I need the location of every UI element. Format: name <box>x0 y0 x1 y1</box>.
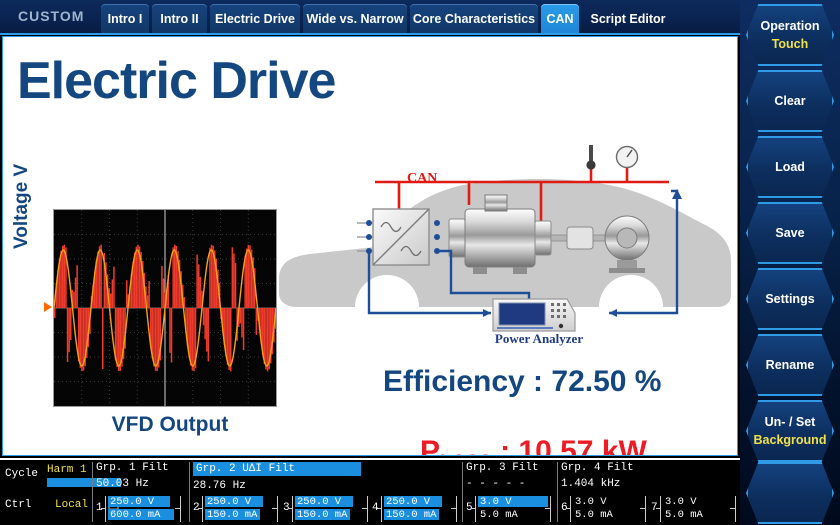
ploss-readout: PLOSS : 10.57 kW <box>420 435 647 456</box>
channel-tick-left <box>377 508 382 509</box>
status-bar: Cycle Harm 1 Ctrl Local Grp. 1 Filt50.03… <box>0 458 740 525</box>
channel-tick-left <box>566 508 571 509</box>
channel-bracket-right <box>645 496 646 522</box>
can-bus-label: CAN <box>407 171 437 187</box>
channel-current-value: 600.0 mA <box>108 509 160 521</box>
channel-tick-left <box>656 508 661 509</box>
channel-bracket-right <box>456 496 457 522</box>
side-button-rail: OperationTouchClearLoadSaveSettingsRenam… <box>740 0 840 525</box>
status-group-frequency: 50.03 Hz <box>96 478 169 490</box>
tab-intro-ii[interactable]: Intro II <box>152 4 207 33</box>
pwm-pulse <box>80 308 82 368</box>
channel-tick-left <box>471 508 476 509</box>
tab-can[interactable]: CAN <box>541 4 579 33</box>
pwm-pulse <box>100 245 102 308</box>
channel-current-value: 5.0 mA <box>573 509 613 521</box>
channel-current-value: 150.0 mA <box>205 509 257 521</box>
pwm-pulse <box>75 278 77 308</box>
rail-button-label: Clear <box>774 94 805 109</box>
pwm-pulse <box>169 308 171 353</box>
ploss-value: 10.57 kW <box>518 435 646 456</box>
channel-voltage-value: 3.0 V <box>663 496 697 508</box>
rail-button-operation[interactable]: OperationTouch <box>746 4 834 66</box>
pwm-pulse <box>208 308 210 361</box>
rail-button-label: Settings <box>765 292 814 307</box>
pwm-pulse <box>68 308 70 352</box>
pwm-pulse <box>172 247 174 308</box>
rail-button-rename[interactable]: Rename <box>746 334 834 396</box>
pwm-pulse <box>203 308 205 325</box>
pwm-pulse <box>70 308 72 340</box>
tab-core-characteristics[interactable]: Core Characteristics <box>410 4 538 33</box>
channel-current-value: 150.0 mA <box>295 509 347 521</box>
status-group-header[interactable]: Grp. 3 Filt <box>466 462 539 474</box>
inverter-output-terminals <box>434 220 440 254</box>
status-group-header[interactable]: Grp. 2 UΔI Filt <box>193 462 361 476</box>
pwm-pulse <box>211 245 213 308</box>
pwm-pulse <box>190 308 192 366</box>
channel-meter-3[interactable]: 3250.0 V150.0 mA <box>283 496 369 522</box>
pwm-pulse <box>241 308 243 338</box>
pwm-pulse <box>155 308 157 371</box>
pwm-pulse <box>136 247 138 308</box>
pwm-pulse <box>200 277 202 308</box>
channel-bracket-left <box>570 496 571 522</box>
application-window: CUSTOM Intro IIntro IIElectric DriveWide… <box>0 0 840 525</box>
rail-button-empty[interactable] <box>746 462 834 524</box>
harmonic-value[interactable]: Harm 1 <box>47 464 87 476</box>
channel-tick-right <box>730 508 735 509</box>
inverter-block <box>373 209 429 265</box>
rail-button-sublabel: Touch <box>772 37 809 52</box>
channel-bracket-left <box>660 496 661 522</box>
pwm-pulse <box>240 308 242 323</box>
channel-meter-1[interactable]: 1250.0 V600.0 mA <box>96 496 182 522</box>
channel-bracket-left <box>292 496 293 522</box>
pwm-pulse <box>54 308 56 318</box>
power-analyzer <box>493 299 575 331</box>
rail-button-un-set[interactable]: Un- / SetBackground <box>746 400 834 462</box>
channel-meter-2[interactable]: 2250.0 V150.0 mA <box>193 496 279 522</box>
channel-tick-right <box>362 508 367 509</box>
efficiency-label: Efficiency : <box>383 365 551 398</box>
pwm-pulse <box>60 251 62 308</box>
waveform-display[interactable] <box>53 209 277 407</box>
pwm-pulse <box>267 308 269 371</box>
tab-electric-drive[interactable]: Electric Drive <box>210 4 300 33</box>
tab-bar: CUSTOM Intro IIntro IIElectric DriveWide… <box>0 0 740 34</box>
status-group-3: Grp. 3 Filt- - - - - <box>466 462 539 490</box>
channel-tick-right <box>451 508 456 509</box>
status-group-header[interactable]: Grp. 1 Filt <box>96 462 169 474</box>
rail-button-label: Load <box>775 160 805 175</box>
channel-tick-right <box>175 508 180 509</box>
channel-meter-7[interactable]: 73.0 V5.0 mA <box>651 496 737 522</box>
temperature-sensor-icon <box>586 145 595 170</box>
status-group-2: Grp. 2 UΔI Filt28.76 Hz <box>193 462 361 492</box>
rail-button-label: Operation <box>760 19 819 34</box>
gauge-icon <box>617 147 638 168</box>
pwm-pulse <box>148 281 150 308</box>
status-separator <box>557 462 558 522</box>
efficiency-value: 72.50 % <box>551 365 661 398</box>
pwm-pulse <box>209 248 211 308</box>
pwm-pulse <box>265 308 267 370</box>
power-analyzer-label: Power Analyzer <box>479 331 599 347</box>
tab-wide-vs-narrow[interactable]: Wide vs. Narrow <box>303 4 407 33</box>
waveform-panel: Voltage V V <box>53 209 277 437</box>
pwm-pulse <box>163 279 165 309</box>
rail-button-sublabel: Background <box>754 433 827 448</box>
status-group-frequency: 1.404 kHz <box>561 478 634 490</box>
channel-tick-right <box>272 508 277 509</box>
rail-button-label: Rename <box>766 358 815 373</box>
channel-voltage-value: 250.0 V <box>205 496 251 508</box>
pwm-pulse <box>232 247 234 308</box>
channel-bracket-right <box>735 496 736 522</box>
pwm-pulse <box>171 308 173 363</box>
status-group-4: Grp. 4 Filt1.404 kHz <box>561 462 634 490</box>
waveform-caption: VFD Output <box>75 413 265 437</box>
pwm-pulse <box>256 308 258 335</box>
channel-tick-left <box>288 508 293 509</box>
pwm-pulse <box>227 308 229 365</box>
pwm-pulse <box>198 265 200 309</box>
tab-intro-i[interactable]: Intro I <box>101 4 149 33</box>
efficiency-readout: Efficiency : 72.50 % <box>383 365 661 399</box>
pwm-pulse <box>248 245 250 308</box>
status-group-frequency: - - - - - <box>466 478 539 490</box>
pwm-pulse <box>192 308 194 370</box>
pwm-pulse <box>81 308 83 371</box>
ploss-label: P <box>420 435 440 456</box>
pwm-pulse <box>153 308 155 366</box>
rail-button-settings[interactable]: Settings <box>746 268 834 330</box>
channel-voltage-value: 250.0 V <box>295 496 341 508</box>
channel-bracket-left <box>475 496 476 522</box>
channel-bracket-left <box>105 496 106 522</box>
pwm-pulse <box>110 294 112 309</box>
rail-button-load[interactable]: Load <box>746 136 834 198</box>
pwm-pulse <box>99 246 101 308</box>
pwm-pulse <box>243 308 245 350</box>
rail-button-clear[interactable]: Clear <box>746 70 834 132</box>
pwm-pulse <box>196 255 198 308</box>
channel-current-value: 5.0 mA <box>478 509 518 521</box>
pwm-pulse <box>116 308 118 367</box>
status-separator <box>92 462 93 522</box>
channel-bracket-left <box>202 496 203 522</box>
pwm-pulse <box>204 308 206 339</box>
trigger-arrow-icon <box>44 302 52 312</box>
channel-current-value: 150.0 mA <box>384 509 436 521</box>
tab-underline <box>0 33 740 35</box>
pwm-pulse <box>228 308 230 370</box>
ctrl-mode-value[interactable]: Local <box>55 499 88 511</box>
pwm-pulse <box>126 280 128 308</box>
channel-meter-6[interactable]: 63.0 V5.0 mA <box>561 496 647 522</box>
ploss-separator: : <box>492 435 519 456</box>
channel-bracket-right <box>277 496 278 522</box>
pwm-pulse <box>113 267 115 308</box>
pwm-pulse <box>118 308 120 371</box>
pwm-pulse <box>235 263 237 308</box>
status-separator <box>462 462 463 522</box>
status-separator <box>189 462 190 522</box>
channel-bracket-right <box>550 496 551 522</box>
pwm-pulse <box>206 308 208 352</box>
channel-tick-left <box>198 508 203 509</box>
channel-meter-5[interactable]: 53.0 V5.0 mA <box>466 496 552 522</box>
pwm-pulse <box>147 295 149 308</box>
pwm-pulse <box>233 254 235 309</box>
cycle-label: Cycle <box>5 468 38 480</box>
ploss-subscript: LOSS <box>440 452 492 456</box>
waveform-y-axis-label: Voltage V <box>11 129 33 249</box>
page-title: Electric Drive <box>17 55 335 107</box>
pwm-pulse <box>161 266 163 308</box>
status-bar-top-rule <box>0 458 740 460</box>
channel-tick-left <box>101 508 106 509</box>
rail-button-label: Save <box>775 226 804 241</box>
status-group-frequency: 28.76 Hz <box>193 480 361 492</box>
pwm-pulse <box>246 249 248 309</box>
pwm-pulse <box>137 245 139 308</box>
pwm-pulse <box>62 246 64 308</box>
main-canvas: Electric Drive <box>2 36 738 456</box>
pwm-pulse <box>174 245 176 308</box>
ctrl-label: Ctrl <box>5 499 31 511</box>
channel-voltage-value: 3.0 V <box>573 496 607 508</box>
channel-bracket-left <box>381 496 382 522</box>
channel-bracket-right <box>180 496 181 522</box>
status-group-header[interactable]: Grp. 4 Filt <box>561 462 634 474</box>
status-group-1: Grp. 1 Filt50.03 Hz <box>96 462 169 490</box>
tab-script-editor[interactable]: Script Editor <box>582 4 674 33</box>
pwm-pulse <box>112 279 114 308</box>
channel-voltage-value: 250.0 V <box>384 496 430 508</box>
vehicle-diagram: Power Analyzer <box>279 127 731 347</box>
channel-current-value: 5.0 mA <box>663 509 703 521</box>
rail-button-label: Un- / Set <box>765 415 816 430</box>
channel-bracket-right <box>367 496 368 522</box>
channel-tick-right <box>640 508 645 509</box>
channel-meter-4[interactable]: 4250.0 V150.0 mA <box>372 496 458 522</box>
channel-voltage-value: 250.0 V <box>108 496 154 508</box>
rail-button-save[interactable]: Save <box>746 202 834 264</box>
pwm-pulse <box>73 292 75 308</box>
pwm-pulse <box>76 265 78 308</box>
pwm-pulse <box>102 308 104 369</box>
channel-tick-right <box>545 508 550 509</box>
custom-label: CUSTOM <box>18 8 84 24</box>
pwm-pulse <box>67 308 69 362</box>
channel-voltage-value: 3.0 V <box>478 496 512 508</box>
